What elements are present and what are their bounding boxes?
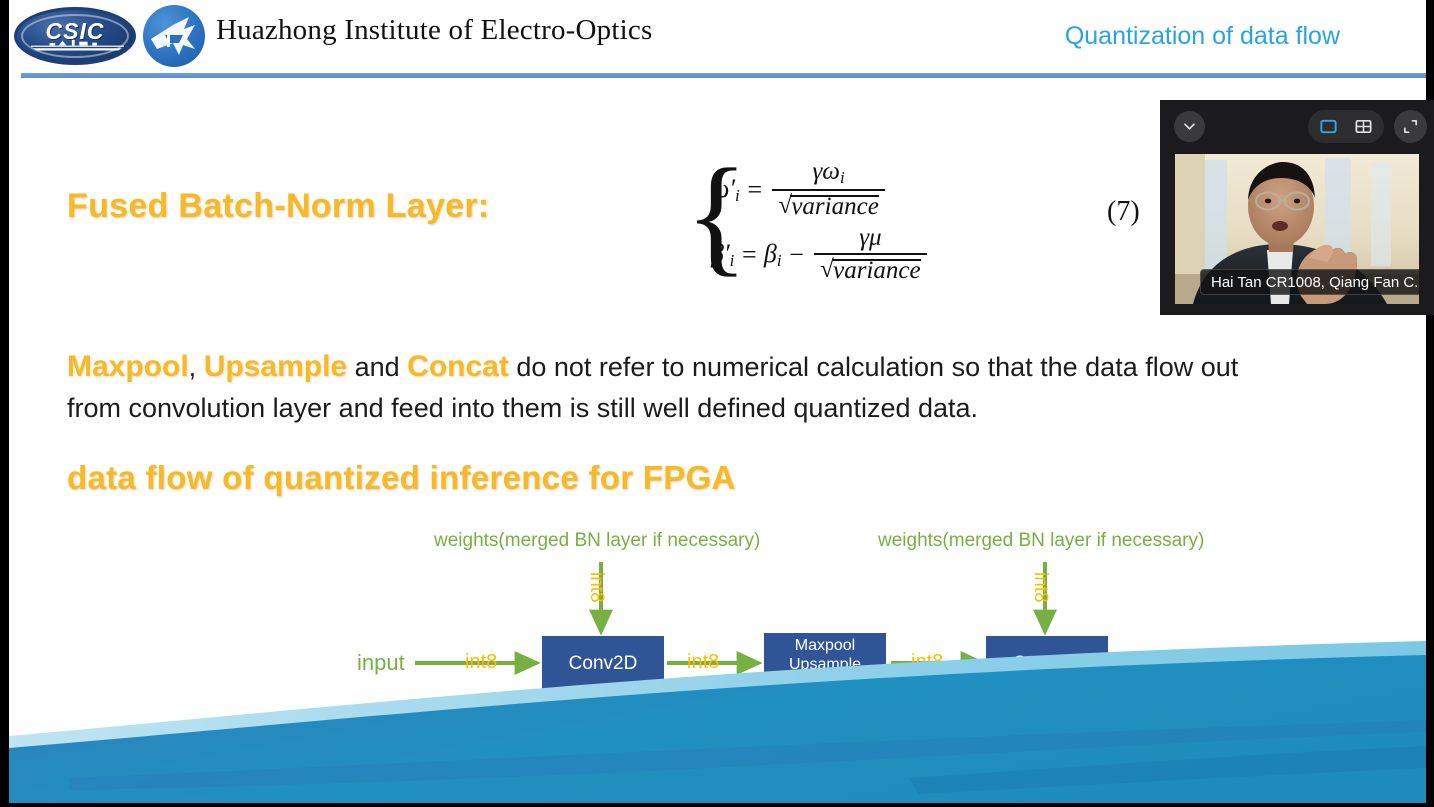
- equation-line2-equals: =: [740, 240, 758, 270]
- equation-line2-fraction: γμ variance: [814, 224, 926, 285]
- weights-label-right: weights(merged BN layer if necessary): [878, 530, 1204, 552]
- screen-root: CSIC Huazhong Institute o: [0, 0, 1434, 807]
- slide-footer-wave: [9, 628, 1426, 803]
- equation-line-1: ω′i = γωi variance: [711, 158, 888, 221]
- vertical-dtype-label-left: int8: [585, 572, 607, 603]
- body-paragraph: Maxpool, Upsample and Concat do not refe…: [67, 345, 1267, 428]
- equation-line2-numerator: γμ: [814, 224, 926, 253]
- slide-header: CSIC Huazhong Institute o: [9, 0, 1426, 73]
- participant-name-tag: Hai Tan CR1008, Qiang Fan C...: [1200, 269, 1419, 295]
- wave-graphic: [9, 628, 1426, 803]
- collapse-panel-button[interactable]: [1174, 111, 1205, 142]
- expand-icon: [1402, 118, 1419, 135]
- participant-video-tile[interactable]: Hai Tan CR1008, Qiang Fan C...: [1175, 154, 1419, 304]
- huazhong-logo-mark-icon: [143, 5, 205, 67]
- equation-line2-denominator: variance: [814, 253, 926, 285]
- header-divider: [21, 73, 1426, 78]
- term-concat: Concat: [407, 350, 509, 383]
- equation-line2-term: βi: [764, 239, 782, 271]
- speaker-view-button[interactable]: [1315, 113, 1342, 140]
- view-mode-toggle-group[interactable]: [1308, 110, 1384, 143]
- paragraph-and: and: [347, 352, 407, 382]
- dataflow-heading: data flow of quantized inference for FPG…: [67, 459, 736, 497]
- gallery-view-button[interactable]: [1350, 113, 1377, 140]
- equation-line1-lhs: ω′i: [711, 174, 740, 206]
- fused-batchnorm-equation: { ω′i = γωi variance β′i = βi − γμ: [685, 152, 985, 302]
- weights-label-left: weights(merged BN layer if necessary): [434, 530, 760, 552]
- csic-logo: CSIC: [14, 7, 136, 65]
- zoom-video-panel[interactable]: Hai Tan CR1008, Qiang Fan C...: [1160, 100, 1434, 315]
- equation-line1-fraction: γωi variance: [772, 158, 884, 221]
- term-maxpool: Maxpool: [67, 350, 189, 383]
- video-panel-controls: [1160, 100, 1434, 152]
- fullscreen-button[interactable]: [1394, 110, 1427, 143]
- huazhong-logo: [143, 5, 205, 67]
- gallery-view-icon: [1354, 117, 1373, 136]
- chevron-down-icon: [1182, 119, 1197, 134]
- paragraph-comma: ,: [189, 352, 197, 382]
- fused-batchnorm-heading: Fused Batch-Norm Layer:: [67, 187, 490, 226]
- equation-line2-minus: −: [788, 240, 806, 270]
- equation-line1-numerator: γωi: [772, 158, 884, 189]
- equation-line1-denominator: variance: [772, 189, 884, 221]
- term-upsample: Upsample: [204, 350, 347, 383]
- equation-line-2: β′i = βi − γμ variance: [711, 224, 930, 285]
- slide-section-title: Quantization of data flow: [1065, 22, 1340, 51]
- equation-line1-equals: =: [746, 175, 764, 205]
- speaker-view-icon: [1319, 117, 1338, 136]
- vertical-dtype-label-right: int8: [1029, 572, 1051, 603]
- ship-silhouette-icon: [31, 38, 124, 51]
- equation-line2-lhs: β′i: [711, 239, 734, 271]
- equation-number: (7): [1107, 196, 1140, 228]
- organization-title: Huazhong Institute of Electro-Optics: [216, 14, 652, 47]
